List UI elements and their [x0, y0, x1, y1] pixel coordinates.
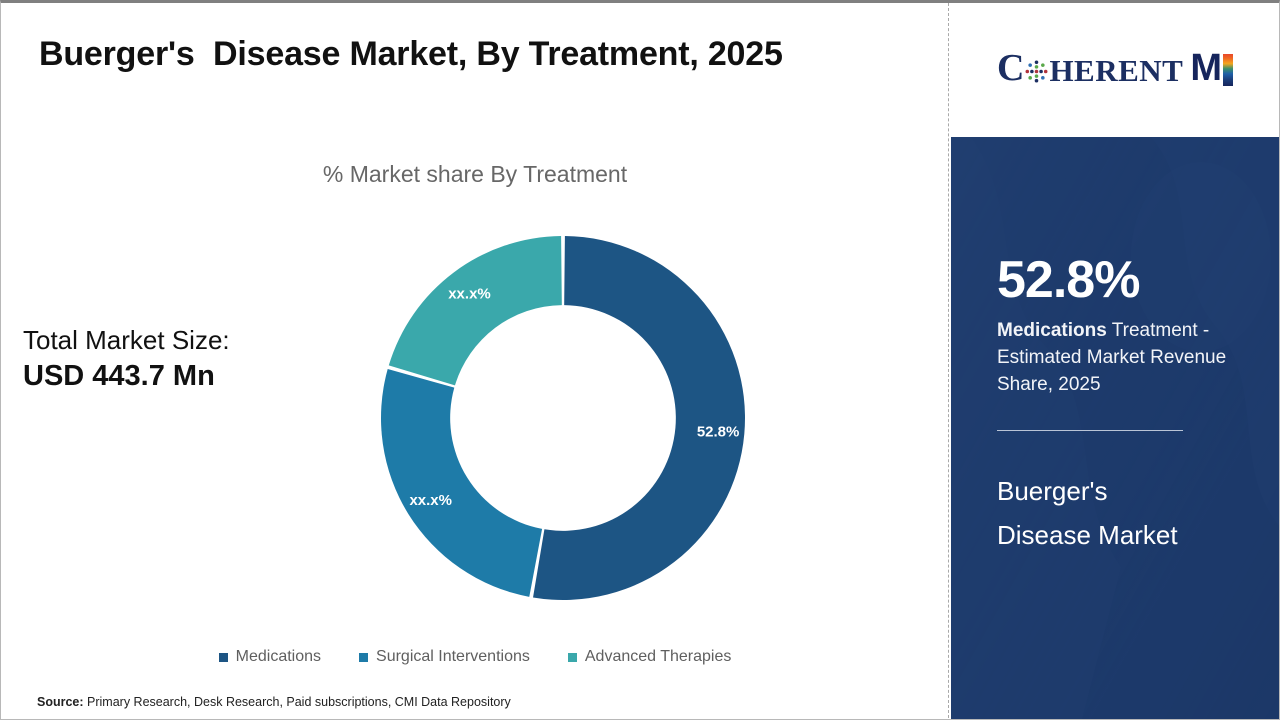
globe-icon	[1025, 60, 1048, 83]
donut-slice-label-medications: 52.8%	[697, 424, 740, 441]
donut-slice-medications[interactable]	[533, 236, 745, 600]
gradient-bar-icon	[1223, 48, 1234, 88]
total-market-size-value: USD 443.7 Mn	[23, 357, 323, 395]
source-prefix: Source:	[37, 695, 84, 709]
brand-logo[interactable]: C	[951, 3, 1280, 137]
panel-divider-rule	[997, 430, 1183, 431]
legend-item-label: Surgical Interventions	[376, 648, 530, 666]
donut-slice-surgical-interventions[interactable]	[381, 369, 542, 597]
legend-item-label: Advanced Therapies	[585, 648, 731, 666]
chart-subtitle: % Market share By Treatment	[1, 161, 949, 188]
source-note: Source: Primary Research, Desk Research,…	[37, 695, 511, 709]
vertical-dashed-divider	[948, 3, 949, 720]
square-swatch	[568, 653, 577, 662]
stat-value: 52.8%	[997, 251, 1249, 309]
source-text: Primary Research, Desk Research, Paid su…	[84, 695, 511, 709]
legend-item-medications[interactable]: Medications	[219, 648, 321, 666]
highlight-panel: 52.8% Medications Treatment - Estimated …	[951, 137, 1280, 720]
panel-market-line-2: Disease Market	[997, 513, 1249, 557]
legend-item-surgical-interventions[interactable]: Surgical Interventions	[359, 648, 530, 666]
donut-chart-svg: 52.8%xx.x%xx.x%	[373, 228, 753, 608]
panel-market-line-1: Buerger's	[997, 469, 1249, 513]
chart-legend: MedicationsSurgical InterventionsAdvance…	[1, 648, 949, 666]
donut-slice-label-surgical-interventions: xx.x%	[409, 492, 452, 509]
legend-item-advanced-therapies[interactable]: Advanced Therapies	[568, 648, 731, 666]
panel-content: 52.8% Medications Treatment - Estimated …	[997, 137, 1249, 557]
legend-item-label: Medications	[236, 648, 321, 666]
logo-letter-m: M	[1190, 49, 1221, 87]
donut-chart: 52.8%xx.x%xx.x%	[373, 228, 753, 608]
donut-slice-label-advanced-therapies: xx.x%	[448, 285, 491, 302]
logo-letter-c: C	[997, 49, 1024, 87]
chart-pane: Buerger's Disease Market, By Treatment, …	[1, 3, 949, 720]
stat-description-bold: Medications	[997, 320, 1107, 341]
square-swatch	[359, 653, 368, 662]
total-market-size-label: Total Market Size:	[23, 323, 323, 357]
page-title: Buerger's Disease Market, By Treatment, …	[39, 35, 919, 74]
panel-market-name: Buerger's Disease Market	[997, 469, 1249, 557]
total-market-size-block: Total Market Size: USD 443.7 Mn	[23, 323, 323, 395]
stat-description: Medications Treatment - Estimated Market…	[997, 317, 1249, 398]
logo-word-herent: HERENT	[1049, 55, 1183, 86]
infographic-slide: Buerger's Disease Market, By Treatment, …	[0, 0, 1280, 720]
coherentmi-logo[interactable]: C	[997, 48, 1234, 88]
square-swatch	[219, 653, 228, 662]
donut-slice-advanced-therapies[interactable]	[389, 236, 562, 385]
